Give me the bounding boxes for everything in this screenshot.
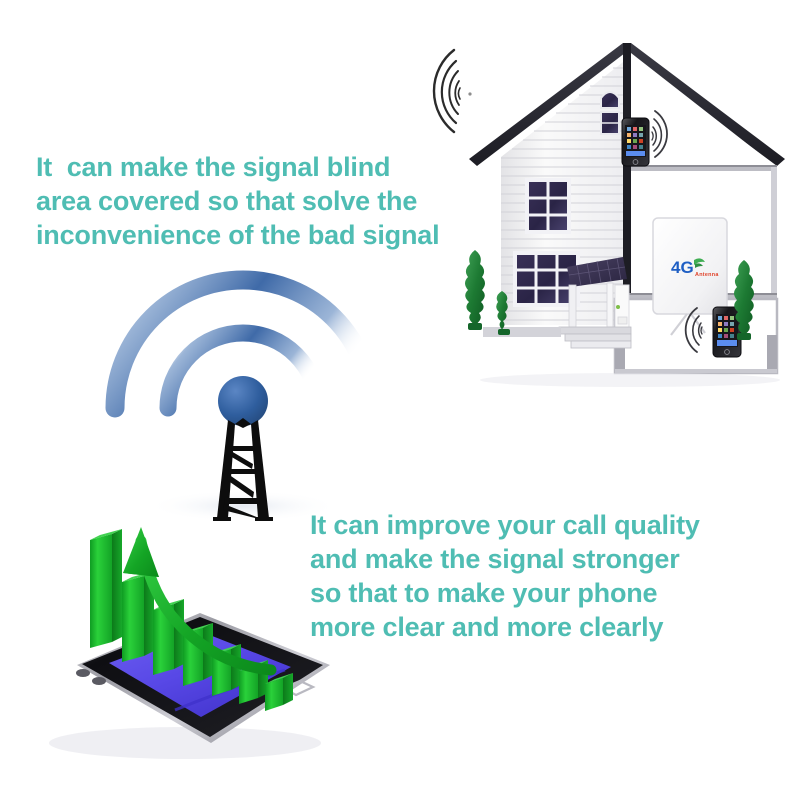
tree-left-large: [465, 250, 485, 330]
headline-top: It can make the signal blind area covere…: [36, 150, 476, 252]
infographic-canvas: It can make the signal blind area covere…: [0, 0, 800, 800]
house-illustration: 4G Antenna: [455, 35, 800, 410]
window-upper: [527, 180, 569, 232]
headline-bottom: It can improve your call quality and mak…: [310, 508, 780, 644]
house-ground-shadow: [480, 373, 780, 387]
smartphone-bar-chart-svg: [25, 505, 345, 765]
bar-1: [90, 529, 122, 648]
side-button-1[interactable]: [76, 669, 90, 677]
cell-tower-svg: [95, 268, 395, 528]
side-button-2[interactable]: [92, 677, 106, 685]
smartphone-bar-chart-illustration: [25, 505, 345, 765]
antenna-logo-sub: Antenna: [695, 272, 719, 278]
attic-windows: [601, 92, 619, 134]
house-svg: 4G Antenna: [455, 35, 800, 410]
phone-shadow: [49, 727, 321, 759]
antenna-logo-main: 4G: [671, 258, 694, 277]
cell-tower-illustration: [95, 268, 395, 528]
window-lower: [515, 253, 578, 305]
